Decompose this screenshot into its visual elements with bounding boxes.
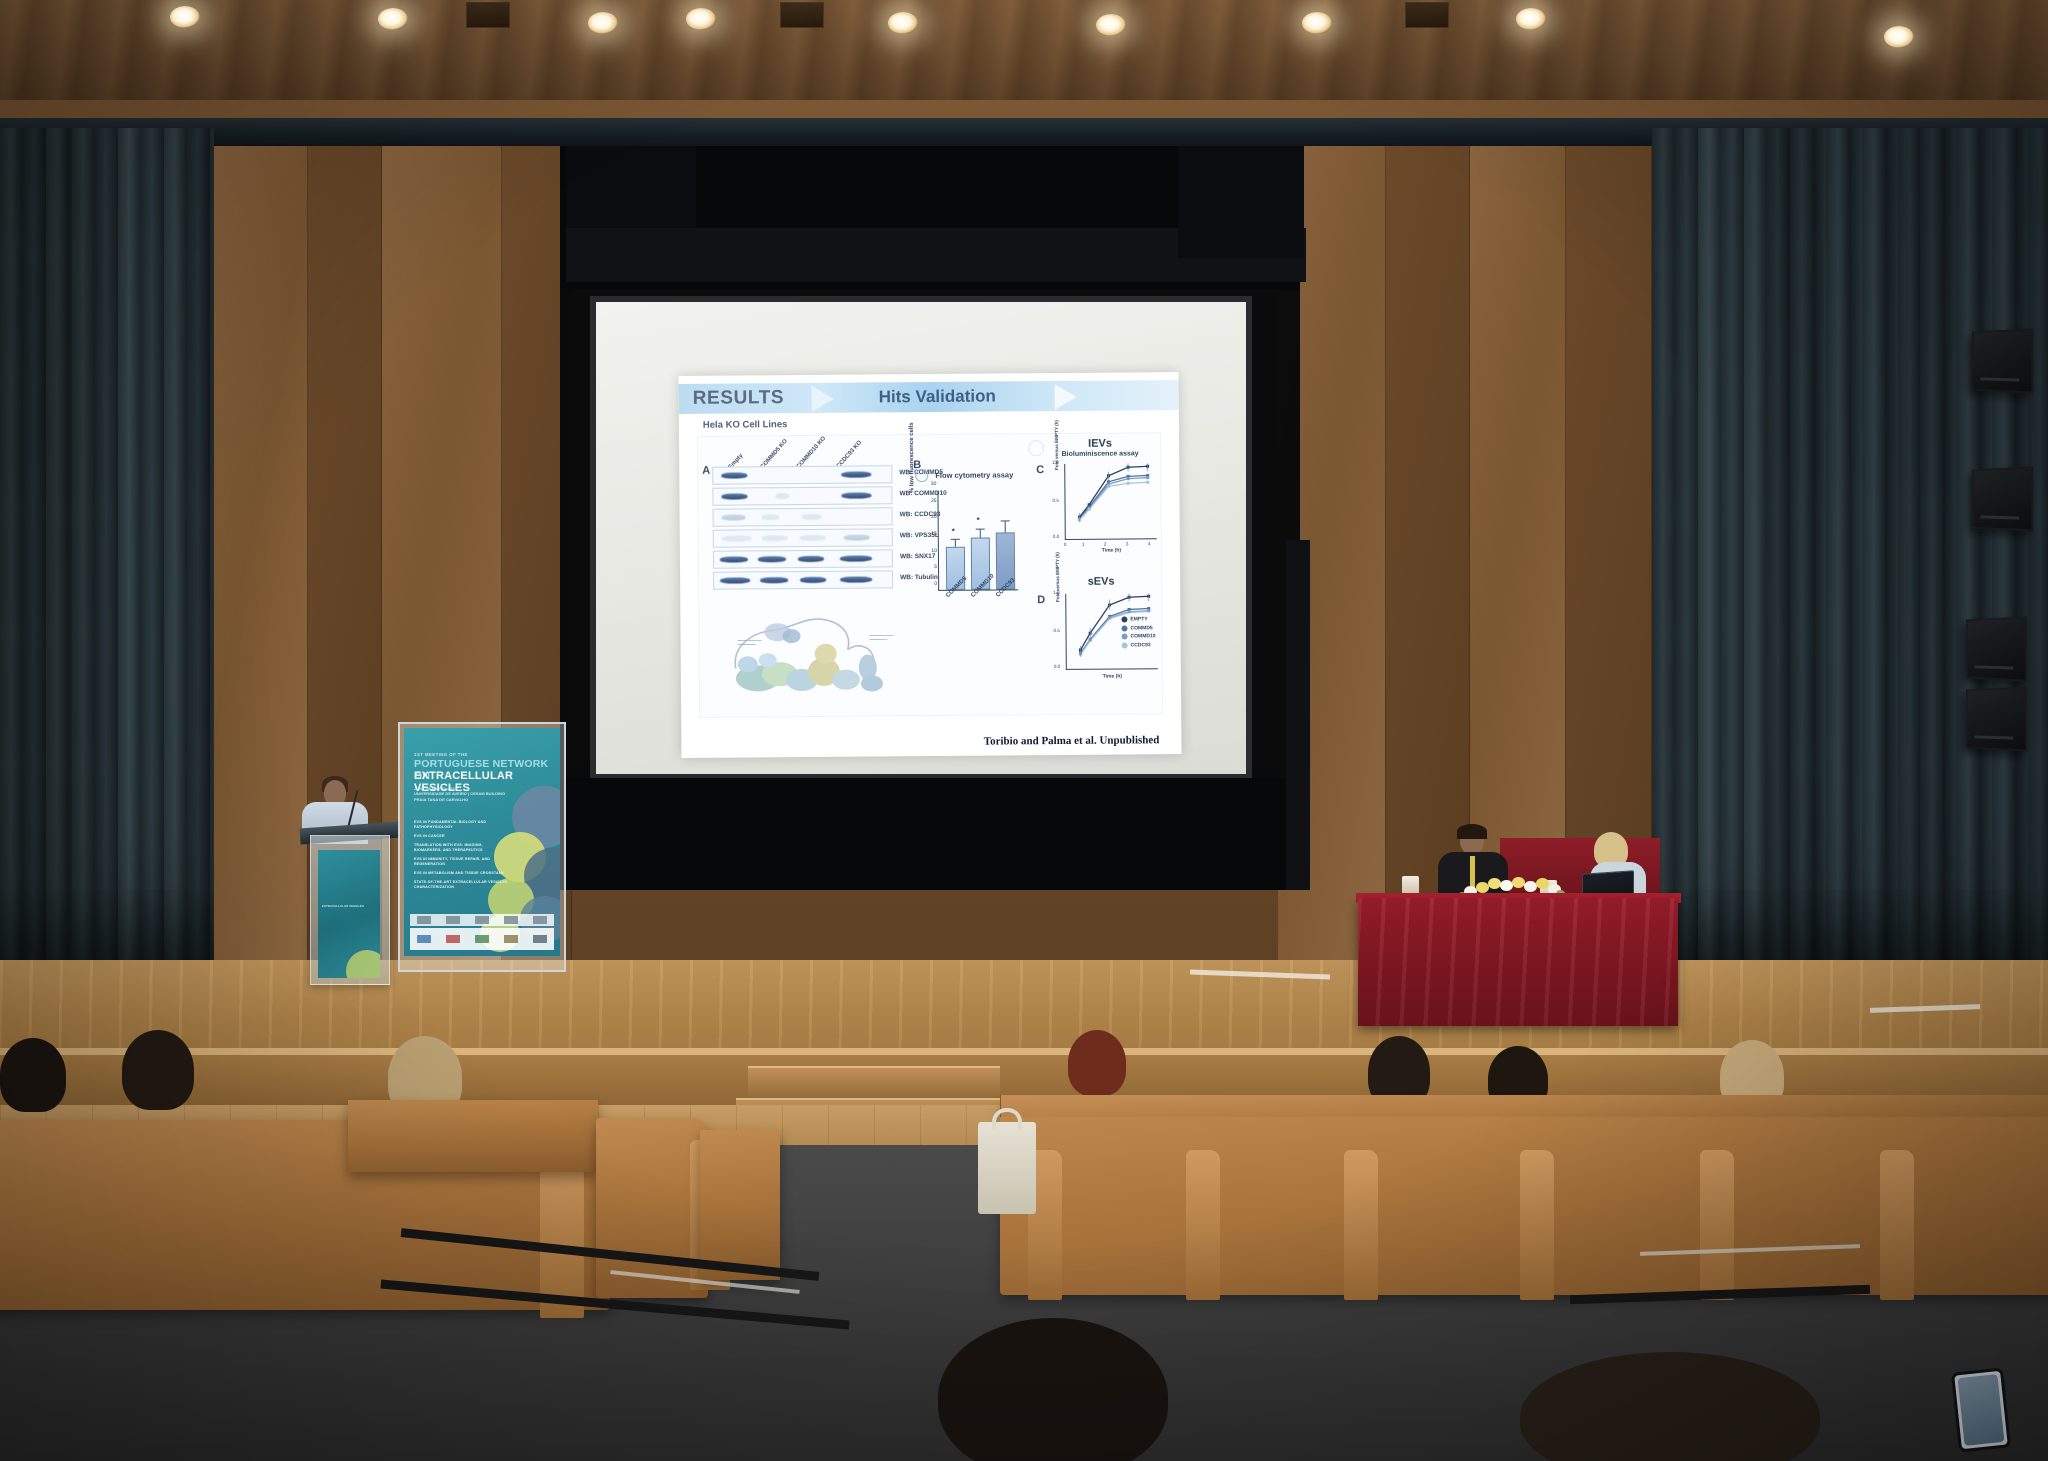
legend-label: EMPTY bbox=[1130, 616, 1147, 622]
sponsor-logo bbox=[475, 935, 489, 943]
seat-back-top bbox=[1000, 1095, 2048, 1117]
panel-d-x-axis-label: Time (h) bbox=[1067, 673, 1158, 680]
sponsor-logo bbox=[533, 916, 547, 924]
banner-topic: EVS IN FUNDAMENTAL BIOLOGY AND PATHOPHYS… bbox=[414, 820, 510, 830]
blot-row: WB: SNX17 bbox=[713, 549, 893, 568]
slide-kicker: Hela KO Cell Lines bbox=[703, 419, 788, 431]
y-tick: 15 bbox=[931, 531, 937, 537]
auditorium-photo: RESULTS Hits Validation Hela KO Cell Lin… bbox=[0, 0, 2048, 1461]
session-chair-left-hair bbox=[1457, 824, 1487, 839]
y-tick: 0 bbox=[934, 581, 937, 587]
ceiling-vent bbox=[466, 2, 510, 28]
legend-label: CCDC93 bbox=[1131, 642, 1151, 648]
ceiling-downlight bbox=[888, 12, 918, 34]
y-tick: 30 bbox=[931, 481, 937, 487]
seat-armrest bbox=[1344, 1150, 1378, 1300]
legend-label: COMMD10 bbox=[1131, 633, 1156, 639]
ceiling-downlight bbox=[1302, 12, 1332, 34]
panel-b-title: Flow cytometry assay bbox=[935, 470, 1013, 480]
banner-sponsor-row-bottom bbox=[410, 928, 554, 950]
legend-item: EMPTY bbox=[1121, 616, 1155, 622]
stage-curtain-left bbox=[72, 128, 214, 988]
panel-b-plot-area: 0 5 10 15 20 25 30 * * bbox=[937, 490, 1018, 591]
error-bar bbox=[980, 529, 981, 537]
panel-c-iev: IEVs Bioluminiscence assay C Fold versus… bbox=[1038, 437, 1163, 570]
ceiling-downlight bbox=[1096, 14, 1126, 36]
legend-label: COMMD5 bbox=[1130, 625, 1152, 631]
sponsor-logo bbox=[417, 916, 431, 924]
audience-head bbox=[1068, 1030, 1126, 1096]
legend-marker bbox=[1122, 633, 1128, 639]
sponsor-logo bbox=[504, 916, 518, 924]
seat-armrest bbox=[1186, 1150, 1220, 1300]
banner-eyebrow: 1ST MEETING OF THE bbox=[414, 752, 468, 757]
slide-section-label: RESULTS bbox=[693, 387, 785, 410]
blot-row: WB: VPS35L bbox=[713, 528, 893, 547]
ceiling-downlight bbox=[686, 8, 716, 30]
chevron-right-icon bbox=[1055, 384, 1077, 410]
ceiling-downlight bbox=[378, 8, 408, 30]
stage-curtain-left bbox=[0, 128, 72, 988]
protein-complex-diagram bbox=[721, 605, 907, 704]
tote-bag bbox=[978, 1122, 1036, 1214]
tote-bag-handle bbox=[992, 1108, 1022, 1130]
seat-armrest bbox=[1520, 1150, 1554, 1300]
smartphone[interactable] bbox=[1951, 1368, 2011, 1453]
wall-panel bbox=[212, 120, 308, 980]
stage-curtain-right bbox=[1920, 128, 2048, 988]
rollup-banner: 1ST MEETING OF THE PORTUGUESE NETWORK ON… bbox=[404, 728, 560, 956]
banner-sponsor-row-top bbox=[410, 914, 554, 926]
stage-curtain-right bbox=[1790, 128, 1920, 988]
wall-panel bbox=[1386, 120, 1470, 980]
ceiling-downlight bbox=[588, 12, 618, 34]
audience-head bbox=[122, 1030, 194, 1110]
western-blot-panel: WB: COMMD5 WB: COMMD10 WB: CCDC93 bbox=[712, 465, 893, 592]
ceiling-downlight bbox=[170, 6, 200, 28]
chart-legend: EMPTY COMMD5 COMMD10 CCDC93 bbox=[1121, 616, 1155, 650]
significance-marker: * bbox=[977, 516, 980, 525]
significance-marker: * bbox=[952, 527, 955, 536]
panel-c-x-axis-label: Time (h) bbox=[1066, 547, 1157, 554]
ceiling-downlight bbox=[1516, 8, 1546, 30]
ceiling-vent bbox=[780, 2, 824, 28]
error-cap bbox=[976, 528, 985, 529]
sponsor-logo bbox=[504, 935, 518, 943]
panel-b-y-axis-label: % low fluorescence cells bbox=[909, 422, 916, 493]
stage-step bbox=[748, 1066, 1000, 1102]
lectern-banner: EXTRACELLULAR VESICLES bbox=[318, 850, 380, 978]
legend-item: COMMD5 bbox=[1121, 625, 1155, 631]
banner-topic: EVS IN IMMUNITY, TISSUE REPAIR, AND REGE… bbox=[414, 857, 510, 867]
blot-row: WB: COMMD5 bbox=[712, 465, 892, 484]
y-tick: 25 bbox=[931, 498, 937, 504]
sponsor-logo bbox=[533, 935, 547, 943]
stage-curtain-right bbox=[1652, 128, 1790, 988]
blot-row: WB: COMMD10 bbox=[712, 486, 892, 505]
audience-head bbox=[0, 1038, 66, 1112]
legend-marker bbox=[1121, 625, 1127, 631]
banner-topic: STATE-OF-THE-ART EXTRACELLULAR VESICLES … bbox=[414, 880, 510, 890]
seat-armrest bbox=[1700, 1150, 1734, 1300]
ceiling-vent bbox=[1405, 2, 1449, 28]
audience-seat-row bbox=[700, 1130, 780, 1280]
panel-letter-c: C bbox=[1036, 464, 1044, 476]
head-table-drape bbox=[1358, 898, 1678, 1026]
legend-item: COMMD10 bbox=[1122, 633, 1156, 639]
sponsor-logo bbox=[417, 935, 431, 943]
y-tick: 20 bbox=[931, 514, 937, 520]
error-cap bbox=[951, 539, 960, 540]
slide-figure-area: A Empty COMMD5 KO COMMD10 KO CCDC93 KO W… bbox=[697, 432, 1163, 718]
sponsor-logo bbox=[446, 916, 460, 924]
banner-topic: EVS IN CANCER bbox=[414, 834, 510, 839]
legend-marker bbox=[1122, 642, 1128, 648]
y-tick: 10 bbox=[931, 548, 937, 554]
sponsor-logo bbox=[475, 916, 489, 924]
blot-lane-labels: Empty COMMD5 KO COMMD10 KO CCDC93 KO bbox=[712, 437, 892, 466]
cell-icon bbox=[915, 469, 928, 482]
blot-row: WB: CCDC93 bbox=[713, 507, 893, 526]
legend-marker bbox=[1121, 616, 1127, 622]
slide-citation: Toribio and Palma et al. Unpublished bbox=[984, 734, 1160, 747]
error-cap bbox=[1001, 520, 1010, 521]
seat-armrest bbox=[540, 1148, 584, 1318]
wall-loudspeaker bbox=[1972, 466, 2033, 531]
audience-seat-row bbox=[348, 1100, 598, 1172]
chevron-right-icon bbox=[812, 386, 834, 412]
legend-item: CCDC93 bbox=[1122, 642, 1156, 648]
error-bar bbox=[1005, 522, 1006, 533]
error-bar bbox=[955, 540, 956, 547]
panel-letter-a: A bbox=[702, 465, 710, 477]
panel-d-sev: sEVs D Fold versus EMPTY (h) 1.0 0.5 0.0 bbox=[1039, 575, 1164, 712]
stage-edge-shadow bbox=[1286, 540, 1310, 890]
panel-b-flow-cytometry: B Flow cytometry assay % low fluorescenc… bbox=[913, 458, 1024, 629]
wall-loudspeaker bbox=[1966, 616, 2027, 681]
banner-dates: JUNE 29 AND 30, 2023 UNIVERSIDADE DE AVE… bbox=[414, 786, 505, 802]
stage-rigging bbox=[1178, 146, 1304, 258]
sponsor-logo bbox=[446, 935, 460, 943]
wall-loudspeaker bbox=[1972, 328, 2033, 393]
lectern-banner-text: EXTRACELLULAR VESICLES bbox=[322, 904, 364, 908]
blot-row: WB: Tubulin bbox=[713, 570, 893, 589]
wall-loudspeaker bbox=[1966, 686, 2027, 751]
panel-c-lines bbox=[1065, 463, 1158, 540]
y-tick: 5 bbox=[934, 564, 937, 570]
panel-c-plot-area: 1.0 0.5 0.0 0 1 2 3 4 bbox=[1064, 463, 1157, 540]
banner-topic: TRANSLATION WITH EVS: IMAGING, BIOMARKER… bbox=[414, 843, 510, 853]
presentation-slide: RESULTS Hits Validation Hela KO Cell Lin… bbox=[679, 372, 1182, 758]
panel-d-plot-area: 1.0 0.5 0.0 bbox=[1065, 593, 1158, 670]
banner-topic-list: EVS IN FUNDAMENTAL BIOLOGY AND PATHOPHYS… bbox=[414, 820, 510, 894]
slide-title: Hits Validation bbox=[879, 386, 996, 407]
ceiling-downlight bbox=[1884, 26, 1914, 48]
banner-topic: EVS IN METABOLISM AND TISSUE CROSSTALK bbox=[414, 871, 510, 876]
panel-letter-d: D bbox=[1037, 594, 1045, 606]
seat-armrest bbox=[1880, 1150, 1914, 1300]
stage-backdrop-lower bbox=[560, 778, 1300, 890]
